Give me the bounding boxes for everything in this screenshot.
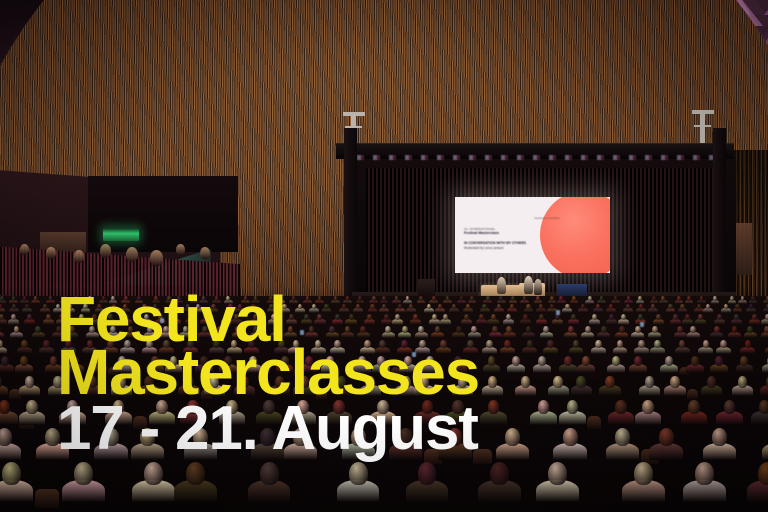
- phone-screen-glint: [300, 330, 304, 335]
- balcony-person: [126, 247, 138, 262]
- audience-person: [724, 400, 736, 414]
- audience-person: [14, 326, 20, 333]
- audience-person: [186, 462, 205, 485]
- audience-person: [49, 296, 53, 301]
- audience-person: [490, 462, 509, 485]
- audience-person: [762, 364, 768, 373]
- balcony-person: [46, 247, 56, 259]
- truss-lamp-row: [348, 155, 720, 160]
- balcony-person: [150, 250, 163, 266]
- audience-person: [762, 443, 768, 460]
- balcony-person: [100, 244, 111, 258]
- phone-screen-glint: [160, 318, 164, 323]
- audience-person: [720, 340, 727, 348]
- audience-person: [717, 314, 722, 320]
- audience-person: [1, 356, 9, 366]
- audience-person: [745, 340, 752, 348]
- audience-person: [23, 296, 27, 301]
- audience-person: [25, 304, 29, 309]
- audience-person: [0, 296, 4, 301]
- audience-person: [46, 314, 51, 320]
- balcony-person: [20, 244, 29, 255]
- audience-person: [740, 356, 748, 366]
- audience-person: [144, 462, 163, 485]
- audience-person: [764, 326, 768, 333]
- audience-person: [2, 462, 21, 485]
- audience-person: [349, 462, 368, 485]
- audience-person: [25, 376, 34, 388]
- audience-person: [0, 308, 5, 313]
- audience-person: [40, 308, 50, 313]
- projection-line-2: Festival Masterclass: [464, 231, 560, 236]
- audience-person: [26, 400, 38, 414]
- audience-person: [758, 462, 768, 485]
- audience-person: [12, 296, 16, 301]
- projection-line-4: Moderated by Lena Larsson: [464, 246, 560, 251]
- projection-screen: handwritten annotation 22. INTERNATIONAL…: [455, 197, 610, 273]
- stage-winch-right: [692, 110, 714, 146]
- audience-person: [34, 296, 38, 301]
- promo-caption: Festival Masterclasses 17 - 21. August: [57, 292, 717, 455]
- audience-person: [260, 462, 279, 485]
- audience-person: [721, 308, 731, 313]
- audience-person: [11, 314, 16, 320]
- audience-person: [741, 296, 745, 301]
- audience-person: [74, 462, 93, 485]
- audience-person: [738, 376, 747, 388]
- audience-person: [0, 385, 8, 396]
- caption-line-dates: 17 - 21. August: [57, 402, 717, 455]
- audience-person: [732, 326, 738, 333]
- phone-screen-glint: [556, 310, 560, 315]
- audience-person: [695, 462, 714, 485]
- balcony-audience: [0, 236, 240, 286]
- audience-person: [724, 304, 728, 309]
- audience-person: [0, 428, 12, 446]
- exit-sign-left: [103, 228, 139, 241]
- audience-person: [763, 308, 768, 313]
- balcony-person: [176, 244, 185, 255]
- audience-person: [21, 340, 28, 348]
- caption-line-masterclasses: Masterclasses: [57, 345, 717, 400]
- projection-line-1: 22. INTERNATIONAL: [464, 227, 560, 231]
- audience-person: [765, 314, 768, 320]
- phone-screen-glint: [640, 322, 644, 327]
- audience-person: [43, 340, 50, 348]
- phone-screen-glint: [412, 352, 416, 357]
- audience-person: [22, 308, 32, 313]
- audience-person: [43, 304, 47, 309]
- audience-person: [548, 462, 567, 485]
- audience-person: [12, 304, 16, 309]
- balcony-person: [74, 250, 84, 263]
- promo-image-canvas: handwritten annotation 22. INTERNATIONAL…: [0, 0, 768, 512]
- audience-person: [0, 332, 4, 339]
- audience-person: [20, 356, 28, 366]
- seat-back: [35, 489, 58, 509]
- audience-person: [735, 304, 739, 309]
- balcony-person: [200, 247, 210, 259]
- audience-person: [752, 314, 757, 320]
- projection-text-block: 22. INTERNATIONAL Festival Masterclass I…: [464, 227, 560, 251]
- audience-person: [730, 296, 734, 301]
- audience-person: [751, 296, 755, 301]
- audience-person: [634, 462, 653, 485]
- projection-annotation: handwritten annotation: [527, 217, 567, 220]
- audience-person: [747, 326, 753, 333]
- audience-person: [418, 462, 437, 485]
- audience-person: [759, 400, 768, 414]
- audience-person: [35, 326, 41, 333]
